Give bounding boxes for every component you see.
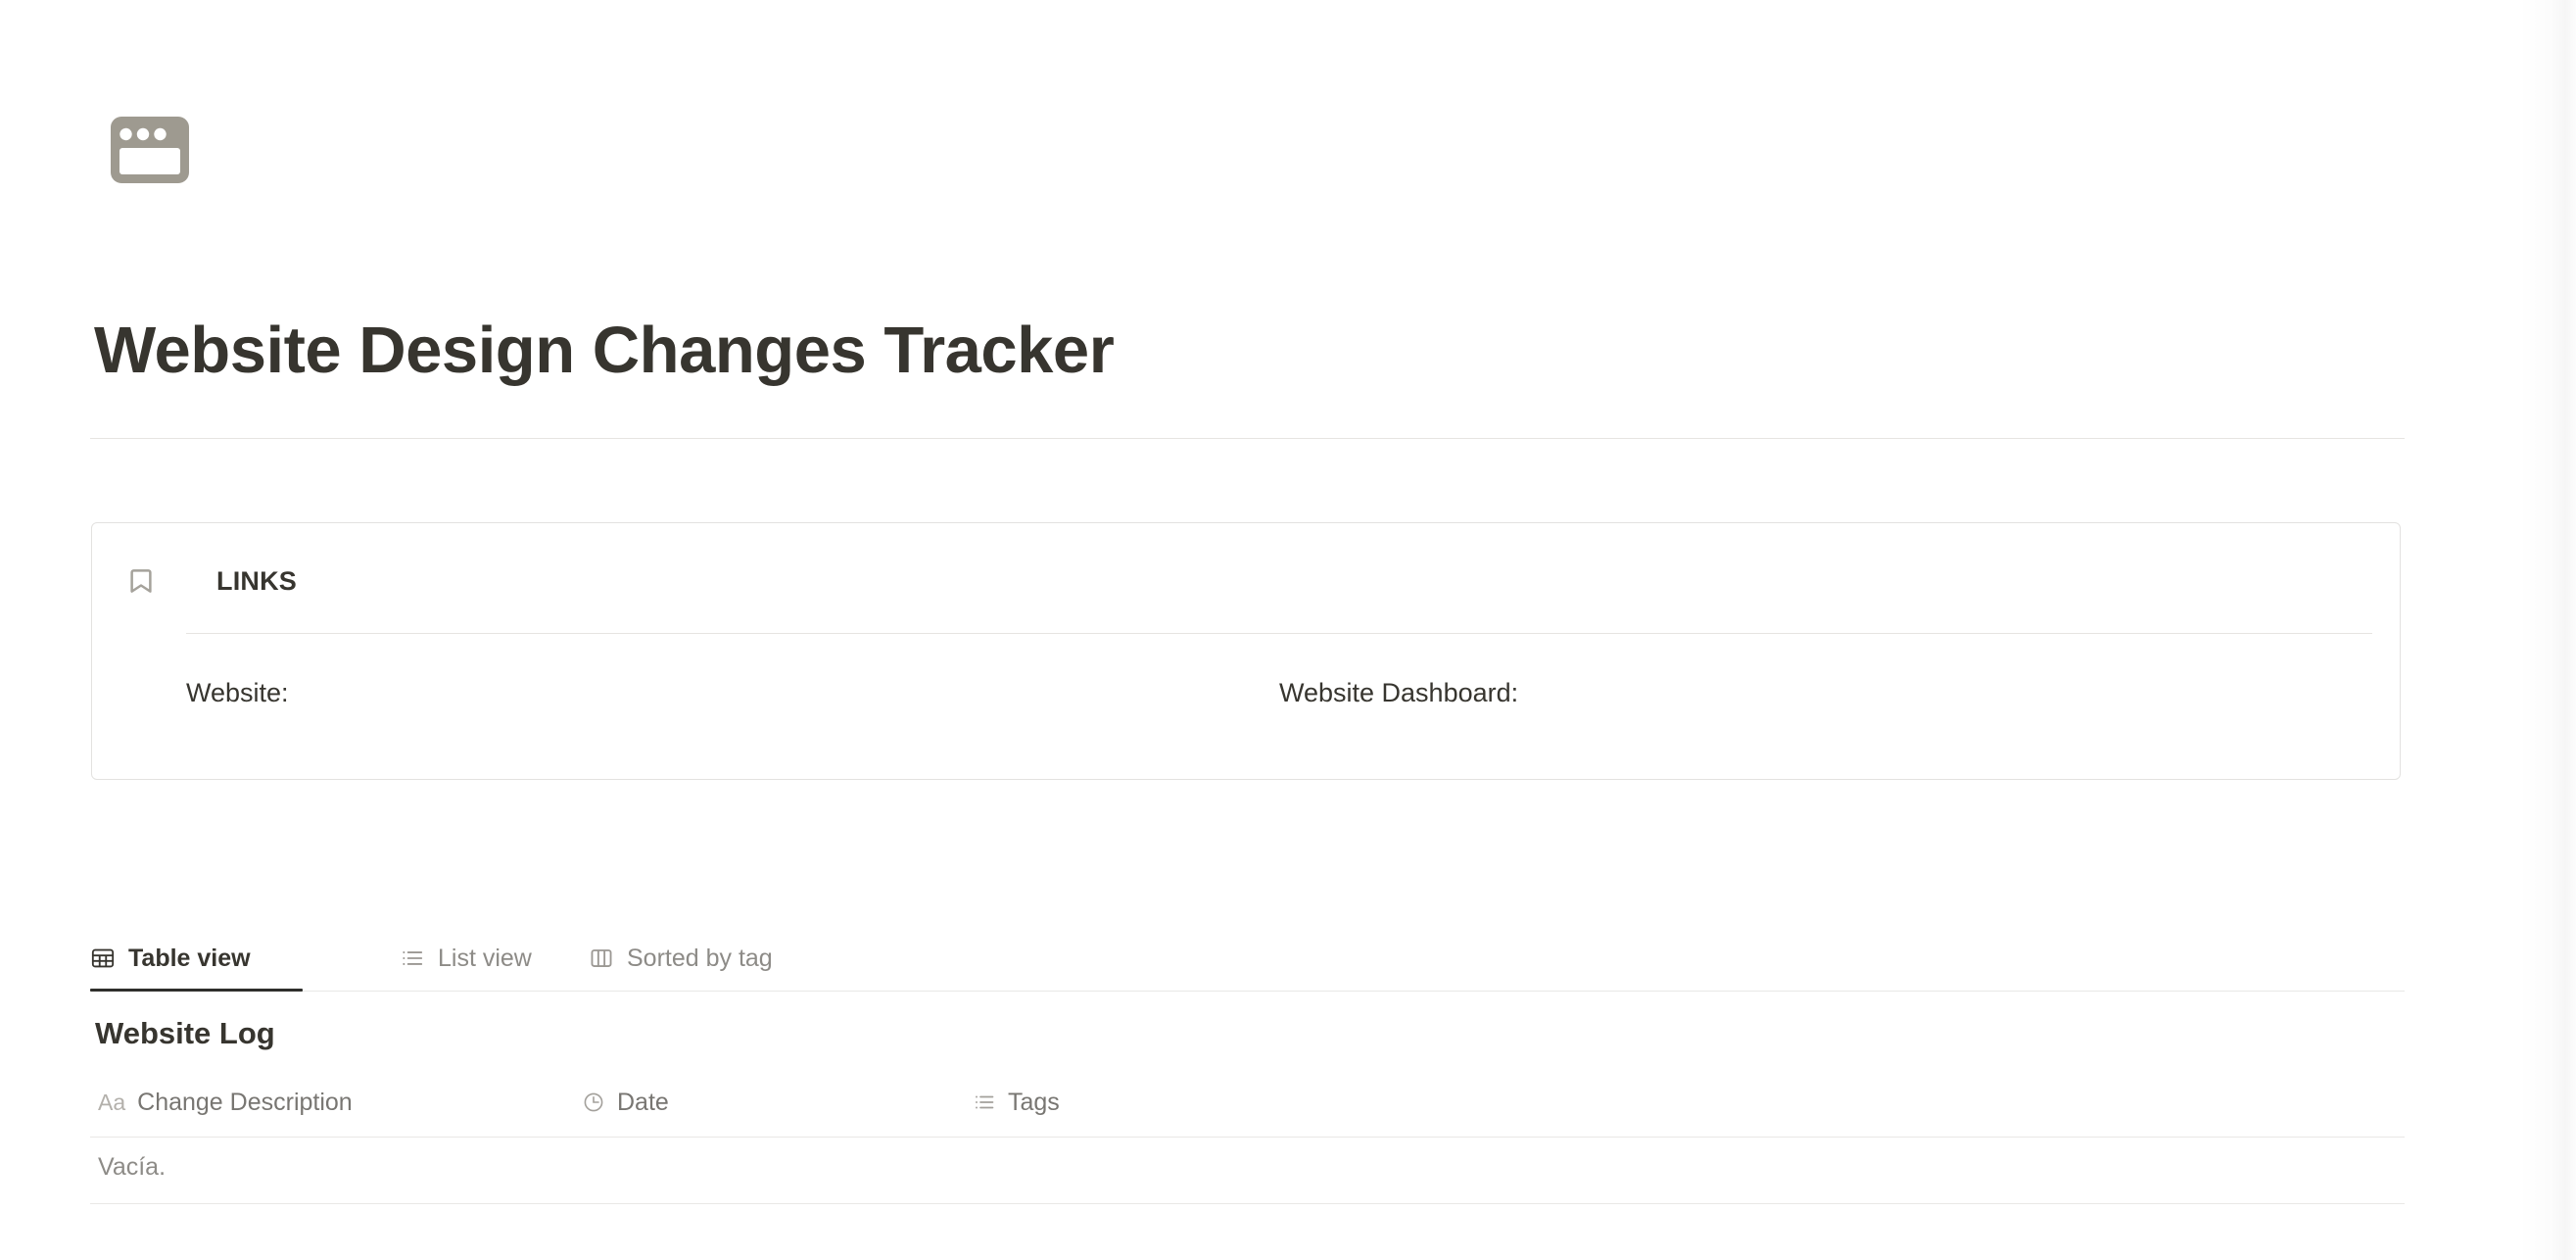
browser-window-icon[interactable] [111, 111, 189, 189]
table-row-empty[interactable]: Vacía. [90, 1138, 2405, 1204]
links-callout: LINKS Website: Website Dashboard: [91, 522, 2401, 780]
links-divider [186, 633, 2372, 634]
table-header-row: Aa Change Description Date [90, 1080, 2405, 1138]
database-title[interactable]: Website Log [95, 1014, 275, 1053]
title-divider [90, 438, 2405, 439]
bookmark-icon [126, 566, 156, 596]
clock-icon [582, 1090, 605, 1114]
empty-state-text: Vacía. [98, 1150, 166, 1184]
column-header-tags[interactable]: Tags [973, 1080, 1060, 1125]
tab-sorted-by-tag[interactable]: Sorted by tag [589, 928, 773, 989]
table-icon [90, 945, 116, 971]
notion-page: Website Design Changes Tracker LINKS Web… [0, 0, 2576, 1260]
viewport-right-edge [2517, 0, 2576, 1260]
tabs-baseline [90, 991, 2405, 992]
tab-table-view[interactable]: Table view [90, 928, 251, 989]
board-icon [589, 945, 614, 971]
page-title[interactable]: Website Design Changes Tracker [94, 312, 1114, 390]
list-icon [400, 945, 425, 971]
column-header-change-description-label: Change Description [137, 1090, 353, 1115]
links-columns: Website: Website Dashboard: [186, 674, 2372, 711]
text-aa-icon: Aa [98, 1090, 125, 1115]
links-heading: LINKS [216, 566, 297, 596]
column-header-date-label: Date [617, 1090, 669, 1115]
column-header-tags-label: Tags [1008, 1090, 1060, 1115]
multi-select-list-icon [973, 1090, 996, 1114]
tab-list-view-label: List view [438, 945, 532, 971]
column-header-date[interactable]: Date [582, 1080, 669, 1125]
tab-sorted-by-tag-label: Sorted by tag [627, 945, 773, 971]
tab-table-view-label: Table view [128, 945, 251, 971]
view-tabs: Table view List view [90, 928, 2405, 993]
link-label-website[interactable]: Website: [186, 674, 1279, 711]
column-header-change-description[interactable]: Aa Change Description [98, 1080, 353, 1125]
tab-list-view[interactable]: List view [400, 928, 532, 989]
links-callout-header: LINKS [126, 566, 297, 596]
active-tab-indicator [90, 989, 303, 992]
link-label-website-dashboard[interactable]: Website Dashboard: [1279, 674, 2372, 711]
